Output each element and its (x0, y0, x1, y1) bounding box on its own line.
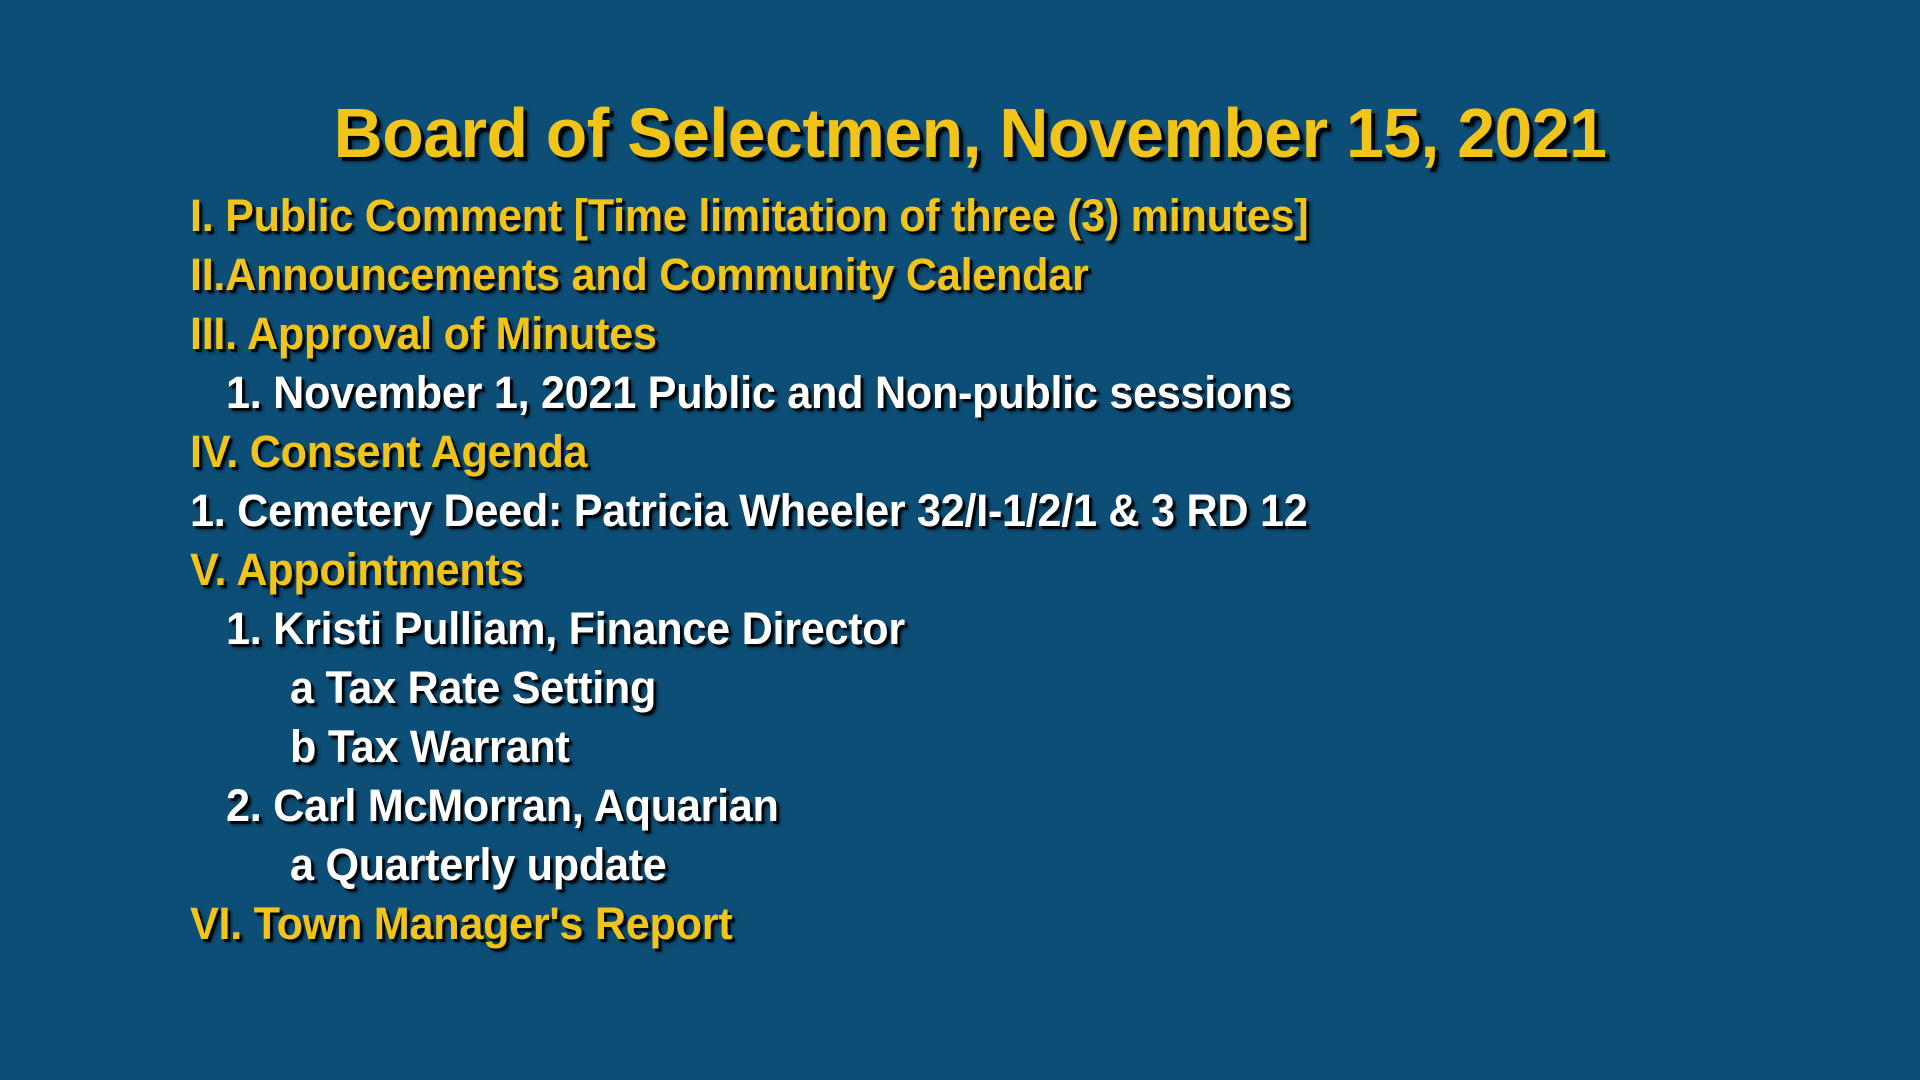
agenda-subitem-carl-mcmorran: 2. Carl McMorran, Aquarian (226, 776, 1785, 835)
agenda-slide: Board of Selectmen, November 15, 2021 I.… (0, 0, 1920, 1080)
agenda-item-town-managers-report: VI. Town Manager's Report (190, 894, 1784, 953)
agenda-item-public-comment: I. Public Comment [Time limitation of th… (190, 186, 1784, 245)
agenda-item-approval-of-minutes: III. Approval of Minutes (190, 304, 1784, 363)
agenda-subitem-kristi-pulliam: 1. Kristi Pulliam, Finance Director (226, 599, 1785, 658)
agenda-item-consent-agenda: IV. Consent Agenda (190, 422, 1784, 481)
agenda-item-announcements: II.Announcements and Community Calendar (190, 245, 1784, 304)
agenda-subsubitem-quarterly-update: a Quarterly update (290, 835, 1788, 894)
agenda-subsubitem-tax-warrant: b Tax Warrant (290, 717, 1788, 776)
agenda-subsubitem-tax-rate-setting: a Tax Rate Setting (290, 658, 1788, 717)
agenda-list: I. Public Comment [Time limitation of th… (190, 186, 1850, 953)
page-title: Board of Selectmen, November 15, 2021 (334, 96, 1607, 170)
agenda-item-appointments: V. Appointments (190, 540, 1784, 599)
agenda-subitem-cemetery-deed: 1. Cemetery Deed: Patricia Wheeler 32/I-… (190, 481, 1784, 540)
slide-title-block: Board of Selectmen, November 15, 2021 (0, 96, 1920, 170)
agenda-subitem-november-1-sessions: 1. November 1, 2021 Public and Non-publi… (226, 363, 1785, 422)
